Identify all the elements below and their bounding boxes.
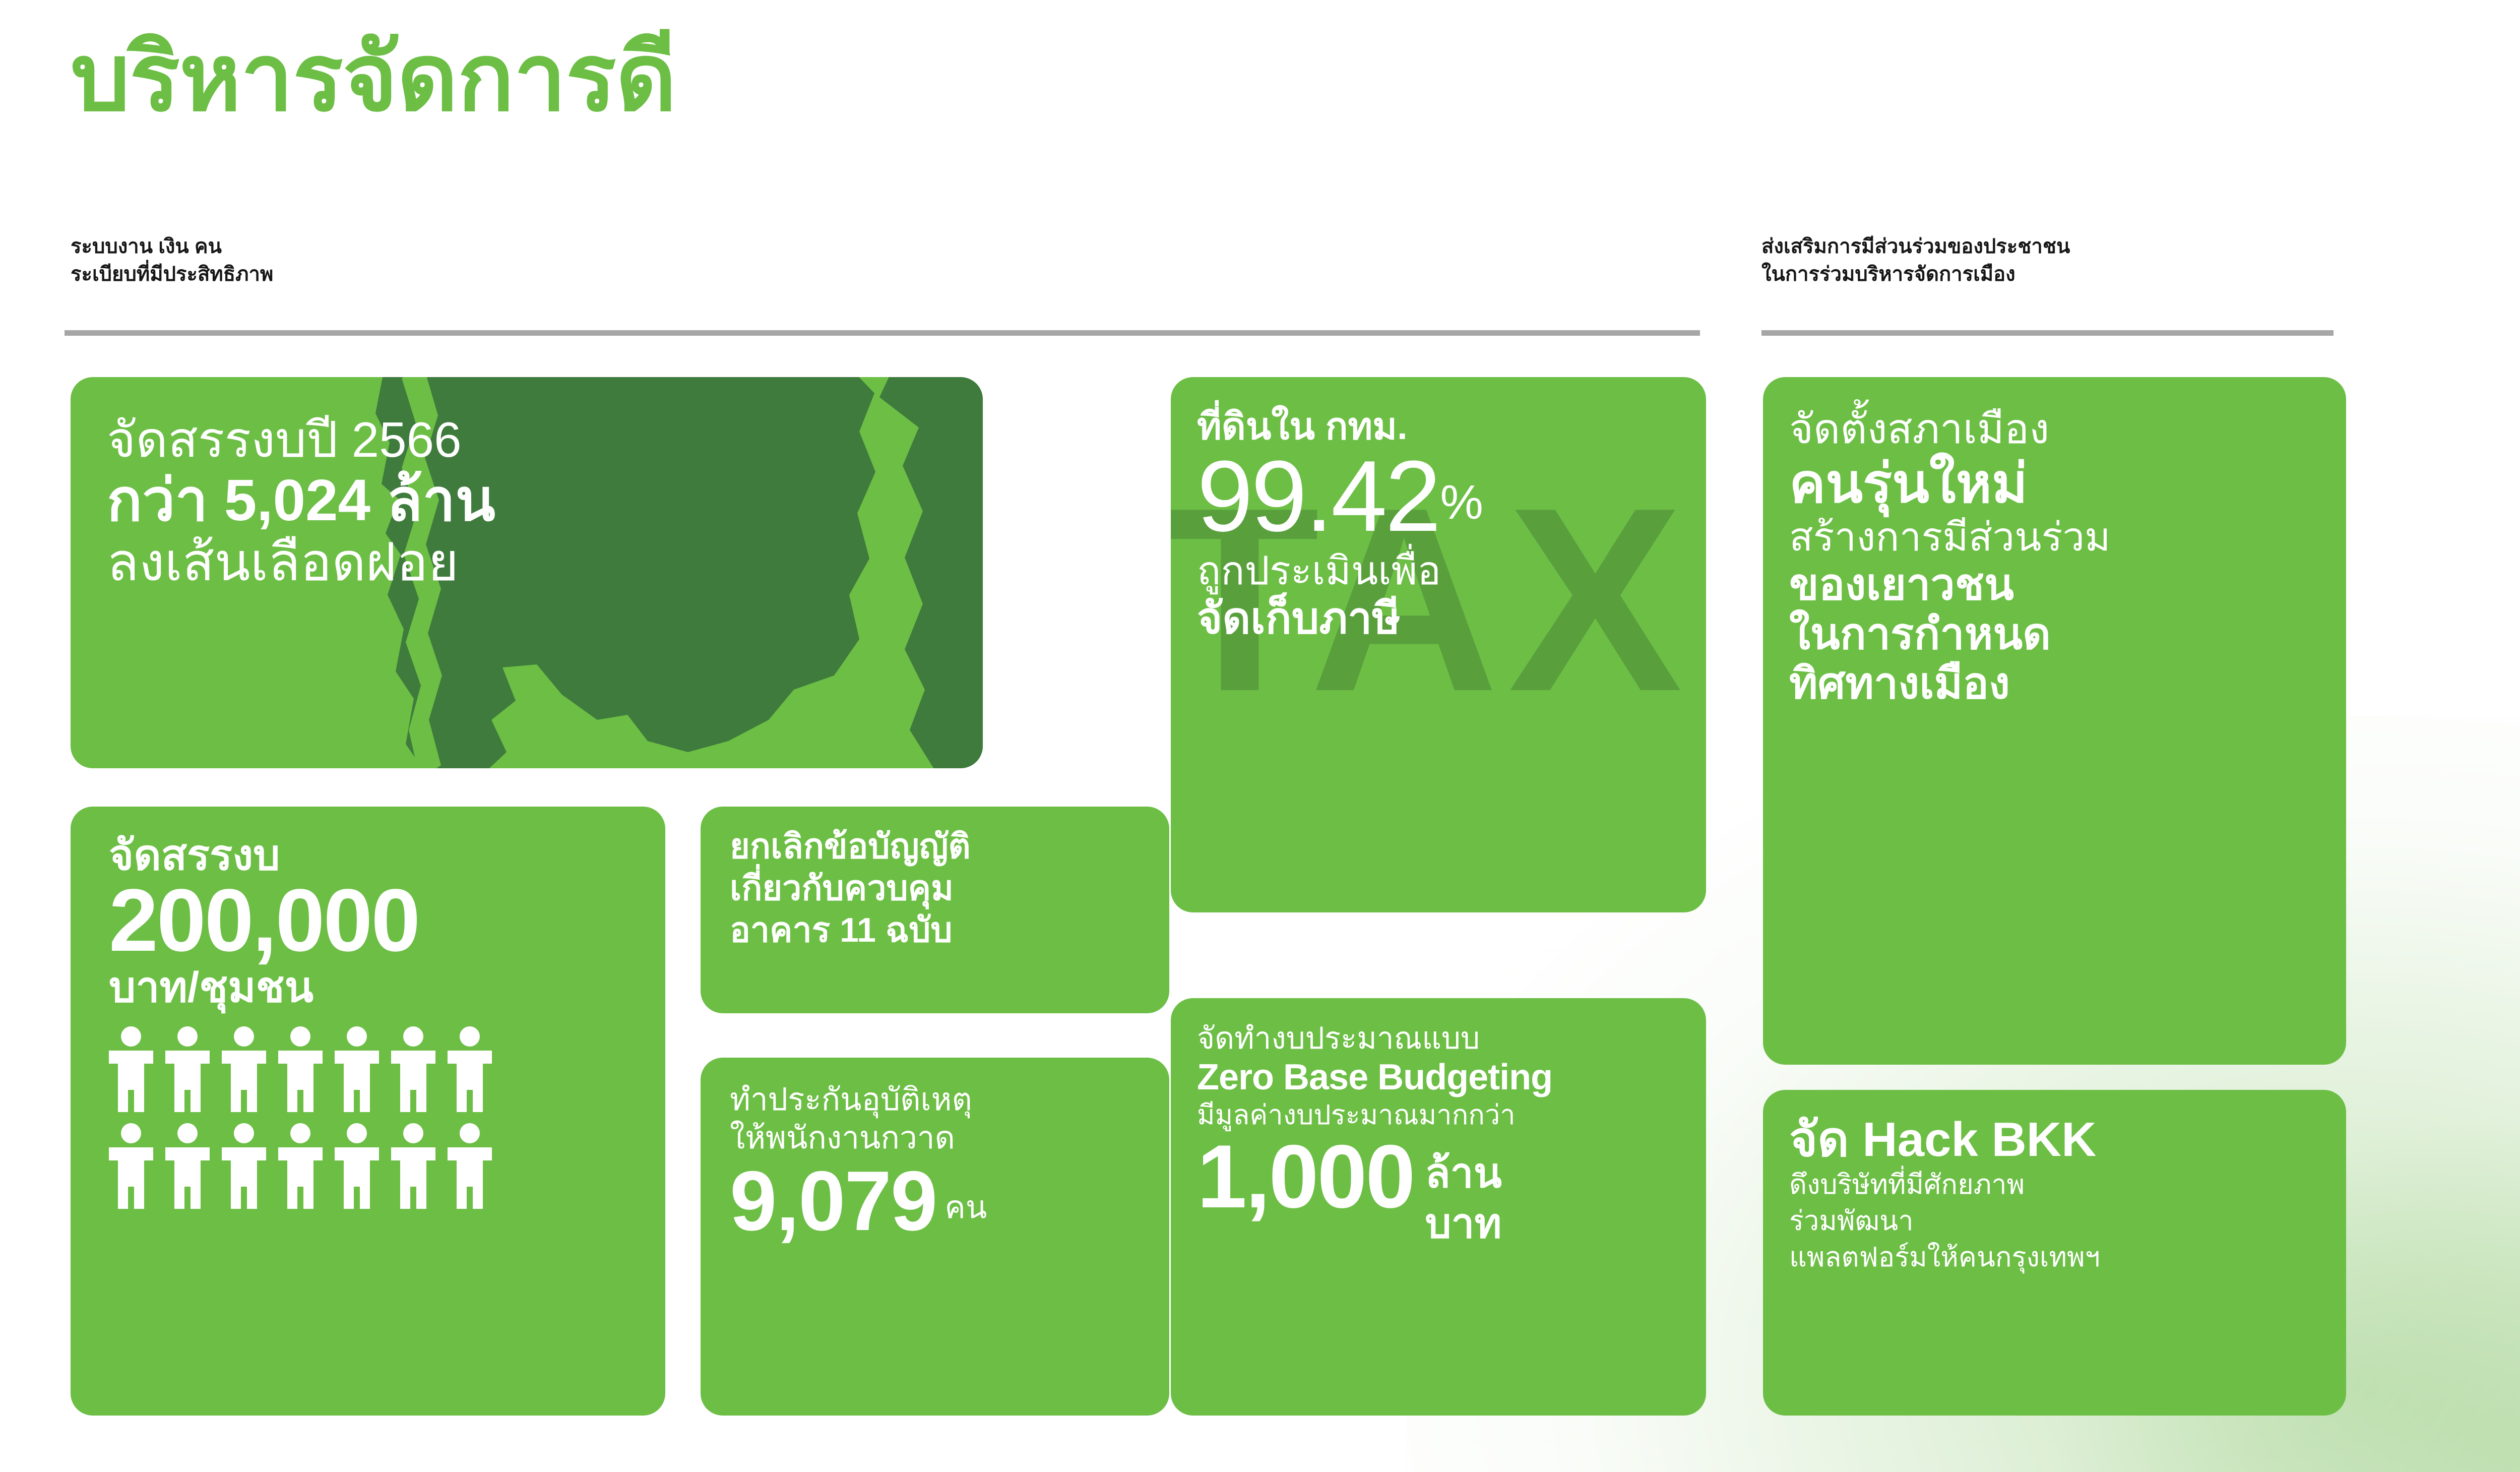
- insurance-unit: คน: [944, 1183, 987, 1232]
- person-icon: [165, 1123, 210, 1209]
- left-divider: [65, 330, 1700, 336]
- person-icon: [222, 1026, 266, 1112]
- card-land-tax[interactable]: TAX ที่ดินใน กทม. 99.42 % ถูกประเมินเพื่…: [1171, 377, 1706, 912]
- person-icon: [278, 1026, 323, 1112]
- tax-line-4: จัดเก็บภาษี: [1197, 594, 1706, 643]
- hack-line-2: ร่วมพัฒนา: [1789, 1203, 2346, 1239]
- person-icon: [448, 1123, 492, 1209]
- insurance-line-1: ทำประกันอุบัติเหตุ: [730, 1081, 1169, 1119]
- tax-percent-sign: %: [1440, 475, 1483, 530]
- council-line-1: จัดตั้งสภาเมือง: [1789, 405, 2346, 453]
- zbb-line-2: Zero Base Budgeting: [1197, 1057, 1706, 1099]
- left-column-header: ระบบงาน เงิน คน ระเบียบที่มีประสิทธิภาพ: [71, 233, 273, 288]
- zbb-amount: 1,000: [1197, 1136, 1414, 1217]
- person-icon: [109, 1123, 153, 1209]
- insurance-line-2: ให้พนักงานกวาด: [730, 1119, 1169, 1157]
- card-budget-allocation[interactable]: จัดสรรงบปี 2566 กว่า 5,024 ล้าน ลงเส้นเล…: [71, 377, 983, 768]
- community-title: จัดสรรงบ: [109, 833, 665, 877]
- person-icon: [335, 1026, 379, 1112]
- tax-line-3: ถูกประเมินเพื่อ: [1197, 547, 1706, 594]
- person-icon: [391, 1123, 435, 1209]
- card-zero-base-budgeting[interactable]: จัดทำงบประมาณแบบ Zero Base Budgeting มีม…: [1171, 998, 1706, 1416]
- people-row: [109, 1026, 665, 1112]
- budget-line-3: ลงเส้นเลือดฝอย: [107, 533, 983, 592]
- zbb-unit-baht: บาท: [1425, 1199, 1501, 1249]
- council-line-5: ในการกำหนด: [1789, 609, 2346, 659]
- ordinance-line-3: อาคาร 11 ฉบับ: [730, 909, 1169, 951]
- person-icon: [165, 1026, 210, 1112]
- budget-line-2: กว่า 5,024 ล้าน: [107, 468, 983, 533]
- card-accident-insurance[interactable]: ทำประกันอุบัติเหตุ ให้พนักงานกวาด 9,079 …: [701, 1058, 1169, 1416]
- card-hack-bkk[interactable]: จัด Hack BKK ดึงบริษัทที่มีศักยภาพ ร่วมพ…: [1763, 1090, 2346, 1416]
- community-unit: บาท/ชุมชน: [109, 965, 665, 1009]
- card-community-budget[interactable]: จัดสรรงบ 200,000 บาท/ชุมชน: [71, 807, 665, 1416]
- insurance-count: 9,079: [730, 1163, 936, 1239]
- hack-line-3: แพลตฟอร์มให้คนกรุงเทพฯ: [1789, 1239, 2346, 1275]
- people-row: [109, 1123, 665, 1209]
- person-icon: [222, 1123, 266, 1209]
- card-building-ordinance[interactable]: ยกเลิกข้อบัญญัติ เกี่ยวกับควบคุม อาคาร 1…: [701, 807, 1169, 1013]
- card-city-council[interactable]: จัดตั้งสภาเมือง คนรุ่นใหม่ สร้างการมีส่ว…: [1763, 377, 2346, 1065]
- council-line-4: ของเยาวชน: [1789, 560, 2346, 609]
- budget-line-1: จัดสรรงบปี 2566: [107, 412, 983, 468]
- hack-line-1: ดึงบริษัทที่มีศักยภาพ: [1789, 1167, 2346, 1203]
- council-line-6: ทิศทางเมือง: [1789, 659, 2346, 708]
- zbb-line-1: จัดทำงบประมาณแบบ: [1197, 1020, 1706, 1057]
- ordinance-line-1: ยกเลิกข้อบัญญัติ: [730, 826, 1169, 868]
- council-line-3: สร้างการมีส่วนร่วม: [1789, 514, 2346, 560]
- person-icon: [391, 1026, 435, 1112]
- hack-title: จัด Hack BKK: [1789, 1113, 2346, 1167]
- people-pictogram: [109, 1026, 665, 1209]
- person-icon: [335, 1123, 379, 1209]
- person-icon: [448, 1026, 492, 1112]
- council-line-2: คนรุ่นใหม่: [1789, 453, 2346, 514]
- person-icon: [278, 1123, 323, 1209]
- person-icon: [109, 1026, 153, 1112]
- community-amount: 200,000: [109, 880, 665, 962]
- zbb-unit-million: ล้าน: [1425, 1148, 1501, 1199]
- right-column-header: ส่งเสริมการมีส่วนร่วมของประชาชน ในการร่ว…: [1761, 233, 2070, 288]
- page-title: บริหารจัดการดี: [71, 31, 676, 125]
- tax-percentage-value: 99.42: [1197, 449, 1439, 544]
- right-divider: [1761, 330, 2334, 336]
- ordinance-line-2: เกี่ยวกับควบคุม: [730, 868, 1169, 909]
